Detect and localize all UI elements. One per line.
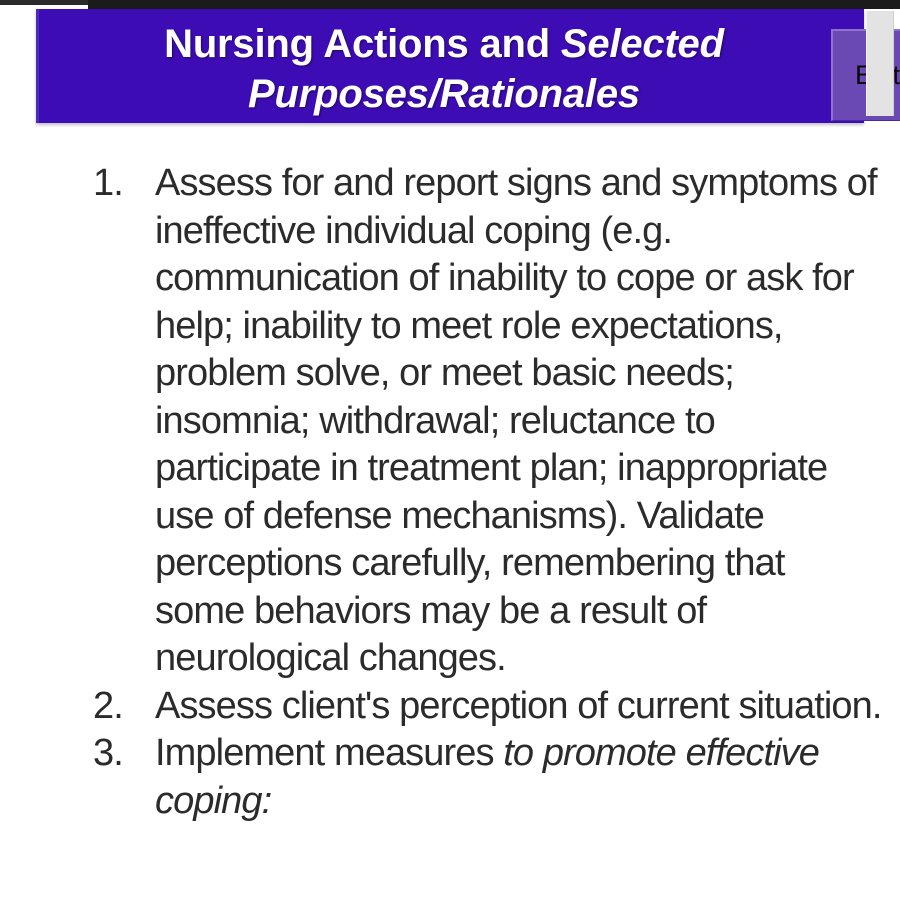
list-item: 1. Assess for and report signs and sympt… [0,160,900,683]
list-item-text-plain: Implement measures [155,732,503,774]
nursing-actions-list: 1. Assess for and report signs and sympt… [0,160,900,825]
list-item-text: Implement measures to promote effective … [155,730,882,825]
page-title: Nursing Actions and Selected Purposes/Ra… [79,19,809,119]
list-item-number: 2. [93,683,145,731]
slide-viewer: Nursing Actions and Selected Purposes/Ra… [0,0,900,900]
top-bezel-left [0,0,90,5]
top-bezel-strip [88,0,900,9]
list-item-text: Assess for and report signs and symptoms… [155,160,882,683]
list-item-text-plain: Assess client's perception of current si… [155,685,882,727]
slide-body: 1. Assess for and report signs and sympt… [0,160,900,900]
list-item: 3. Implement measures to promote effecti… [0,730,900,825]
list-item: 2. Assess client's perception of current… [0,683,900,731]
list-item-text: Assess client's perception of current si… [155,683,882,731]
list-item-text-plain: Assess for and report signs and symptoms… [155,162,877,679]
page-title-italic-1: Selected [561,22,724,66]
page-title-italic-2: Purposes/Rationales [248,72,640,116]
page-title-plain: Nursing Actions and [164,22,561,66]
slide-header-band: Nursing Actions and Selected Purposes/Ra… [36,9,864,123]
list-item-number: 3. [93,730,145,778]
right-side-panel[interactable] [866,11,894,116]
list-item-number: 1. [93,160,145,208]
